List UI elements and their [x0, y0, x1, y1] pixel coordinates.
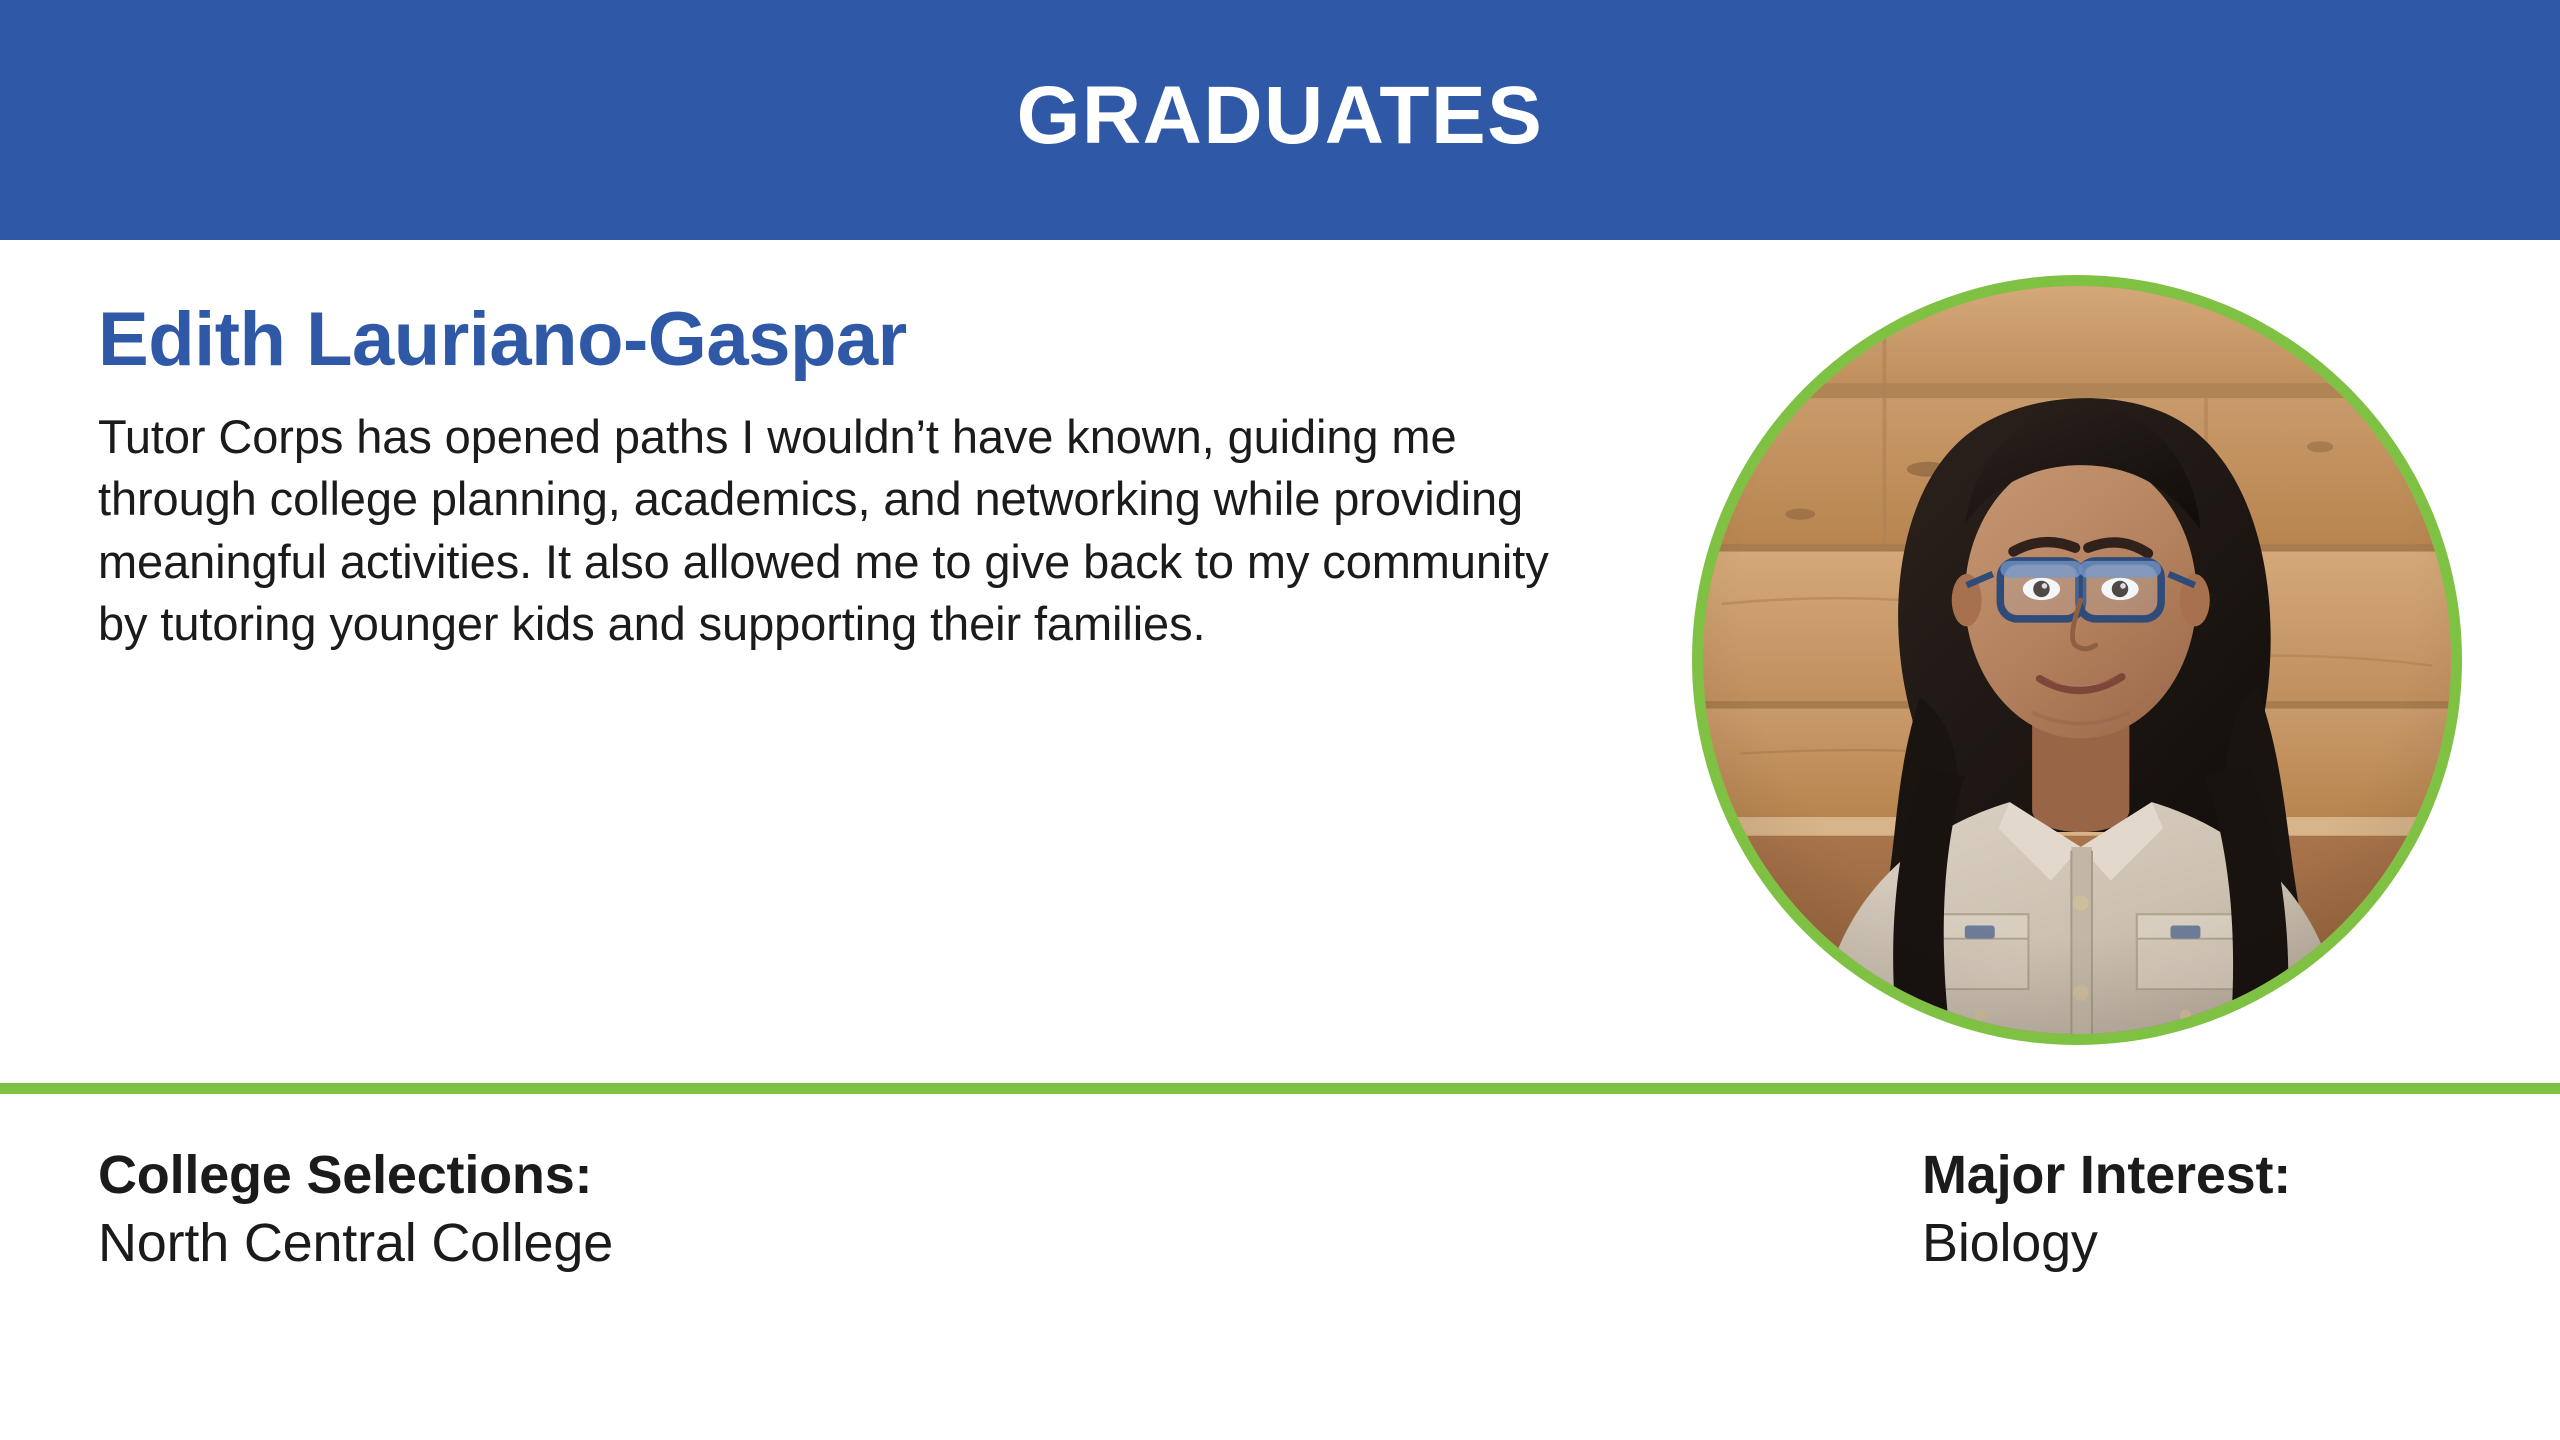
major-interest-label: Major Interest: — [1922, 1144, 2291, 1208]
footer-section: College Selections: North Central Colleg… — [0, 1094, 2560, 1440]
profile-section: Edith Lauriano-Gaspar Tutor Corps has op… — [0, 240, 2560, 1083]
student-quote: Tutor Corps has opened paths I wouldn’t … — [98, 406, 1573, 656]
major-interest-block: Major Interest: Biology — [1922, 1144, 2291, 1275]
header-banner: GRADUATES — [0, 0, 2560, 240]
college-selections-block: College Selections: North Central Colleg… — [98, 1144, 613, 1275]
portrait-photo — [1703, 286, 2451, 1034]
profile-text-column: Edith Lauriano-Gaspar Tutor Corps has op… — [98, 300, 1578, 656]
portrait-illustration — [1703, 286, 2451, 1034]
student-portrait — [1692, 275, 2462, 1045]
page-title: GRADUATES — [1017, 75, 1544, 157]
student-name: Edith Lauriano-Gaspar — [98, 300, 1578, 380]
section-divider — [0, 1083, 2560, 1094]
college-selections-label: College Selections: — [98, 1144, 613, 1208]
major-interest-value: Biology — [1922, 1212, 2291, 1276]
college-selections-value: North Central College — [98, 1212, 613, 1276]
